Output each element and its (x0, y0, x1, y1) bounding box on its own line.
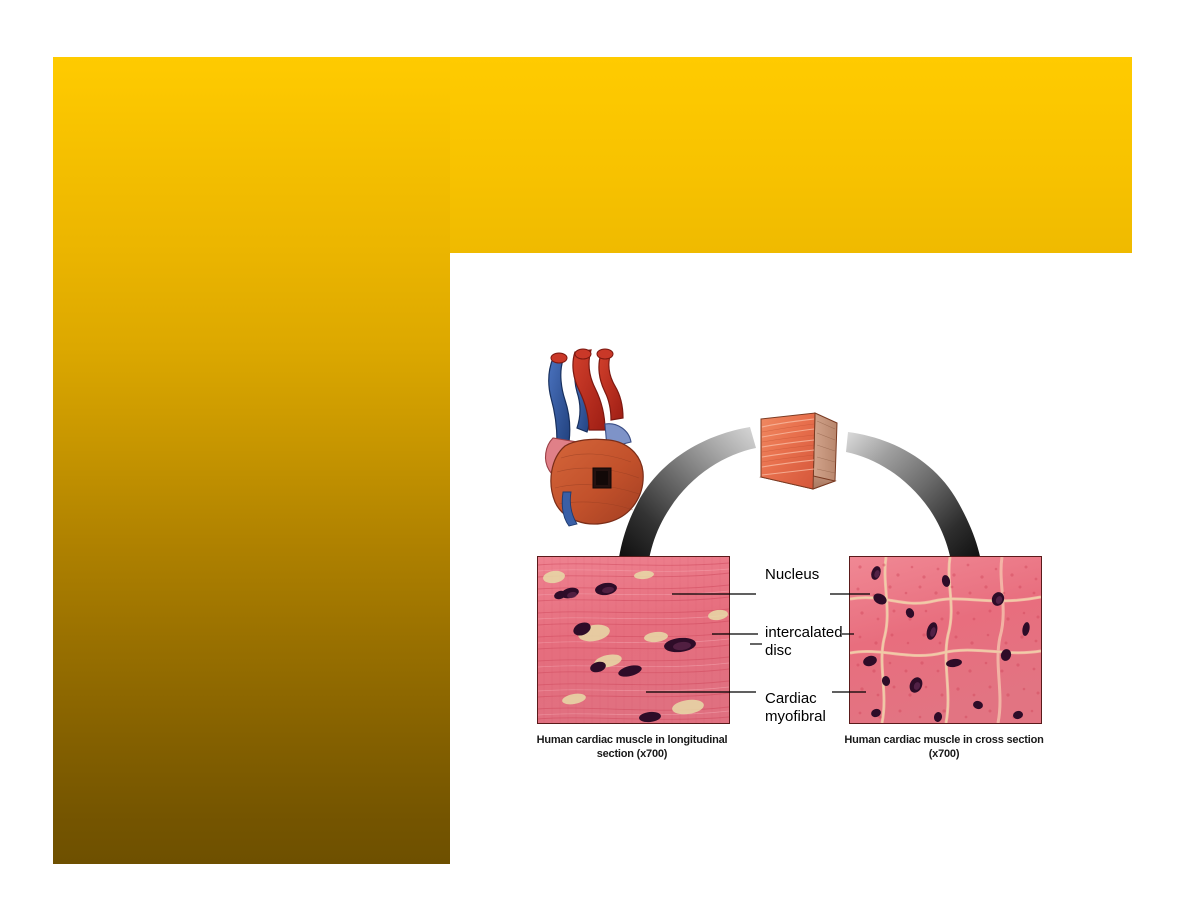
label-cardiac-myofibral: Cardiac myofibral (765, 690, 826, 726)
label-group: Nucleus intercalated disc Cardiac myofib… (753, 556, 849, 736)
accent-band-left (53, 57, 450, 864)
caption-cross: Human cardiac muscle in cross section (x… (839, 733, 1049, 761)
slide-canvas: Nucleus intercalated disc Cardiac myofib… (0, 0, 1188, 918)
micrograph-longitudinal (537, 556, 730, 724)
micrograph-cross-section (849, 556, 1042, 724)
vena-cava (549, 358, 570, 442)
label-nucleus: Nucleus (765, 566, 819, 584)
heart-illustration (535, 342, 655, 527)
caption-longitudinal: Human cardiac muscle in longitudinal sec… (527, 733, 737, 761)
label-intercalated-disc: intercalated disc (765, 624, 843, 660)
muscle-block-illustration (743, 397, 853, 512)
cardiac-muscle-figure: Nucleus intercalated disc Cardiac myofib… (450, 252, 1188, 918)
